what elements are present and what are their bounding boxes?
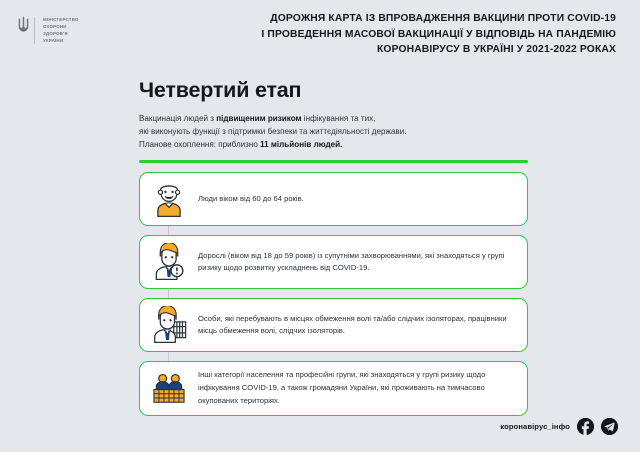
list-item-label: Люди віком від 60 до 64 років. [198, 193, 515, 206]
list-item[interactable]: Особи, які перебувають в місцях обмеженн… [139, 298, 528, 352]
page-title: Четвертий етап [139, 78, 530, 103]
header-title-line-2: І ПРОВЕДЕННЯ МАСОВОЇ ВАКЦИНАЦІЇ У ВІДПОВ… [150, 27, 616, 43]
person-behind-bars-icon [150, 306, 188, 344]
elderly-person-icon [150, 180, 188, 218]
list-item-label: Дорослі (віком від 18 до 59 років) із су… [198, 250, 515, 276]
list-item[interactable]: Люди віком від 60 до 64 років. [139, 172, 528, 226]
main-content: Четвертий етап Вакцинація людей з підвищ… [0, 66, 640, 416]
intro-line-1-c: інфікування та тих, [302, 114, 376, 123]
adult-with-warning-badge-icon [150, 243, 188, 281]
ukraine-trident-emblem [18, 16, 29, 32]
footer-brand-label: коронавірус_інфо [500, 422, 570, 431]
ministry-logo-text: Міністерство охорони здоров'я України [43, 16, 79, 45]
group-of-people-icon [150, 369, 188, 407]
header-title-line-1: ДОРОЖНЯ КАРТА ІЗ ВПРОВАДЖЕННЯ ВАКЦИНИ ПР… [150, 11, 616, 27]
intro-line-3-a: Планове охоплення: приблизно [139, 140, 260, 149]
card-list: Люди віком від 60 до 64 років. Дорослі (… [139, 172, 528, 415]
header-title-line-3: КОРОНАВІРУСУ В УКРАЇНІ У 2021-2022 РОКАХ [150, 42, 616, 58]
list-item[interactable]: Дорослі (віком від 18 до 59 років) із су… [139, 235, 528, 289]
intro-line-3: Планове охоплення: приблизно 11 мільйоні… [139, 138, 530, 151]
ministry-logo: Міністерство охорони здоров'я України [0, 0, 150, 45]
header-title: ДОРОЖНЯ КАРТА ІЗ ВПРОВАДЖЕННЯ ВАКЦИНИ ПР… [150, 0, 640, 58]
intro-line-1: Вакцинація людей з підвищеним ризиком ін… [139, 112, 530, 125]
telegram-glyph [601, 418, 618, 435]
intro-highlight-risk: підвищеним ризиком [216, 114, 301, 123]
list-item[interactable]: Інші категорії населення та професійні г… [139, 361, 528, 415]
logo-divider [34, 17, 35, 44]
list-item-label: Інші категорії населення та професійні г… [198, 369, 515, 407]
page-footer: коронавірус_інфо [500, 418, 618, 435]
intro-highlight-coverage: 11 мільйонів людей. [260, 140, 342, 149]
intro-paragraph: Вакцинація людей з підвищеним ризиком ін… [139, 112, 530, 151]
green-divider [139, 160, 528, 163]
facebook-glyph [577, 418, 594, 435]
page-header: Міністерство охорони здоров'я України ДО… [0, 0, 640, 66]
intro-line-1-a: Вакцинація людей з [139, 114, 216, 123]
telegram-icon[interactable] [601, 418, 618, 435]
facebook-icon[interactable] [577, 418, 594, 435]
intro-line-2: які виконують функції з підтримки безпек… [139, 125, 530, 138]
list-item-label: Особи, які перебувають в місцях обмеженн… [198, 313, 515, 339]
